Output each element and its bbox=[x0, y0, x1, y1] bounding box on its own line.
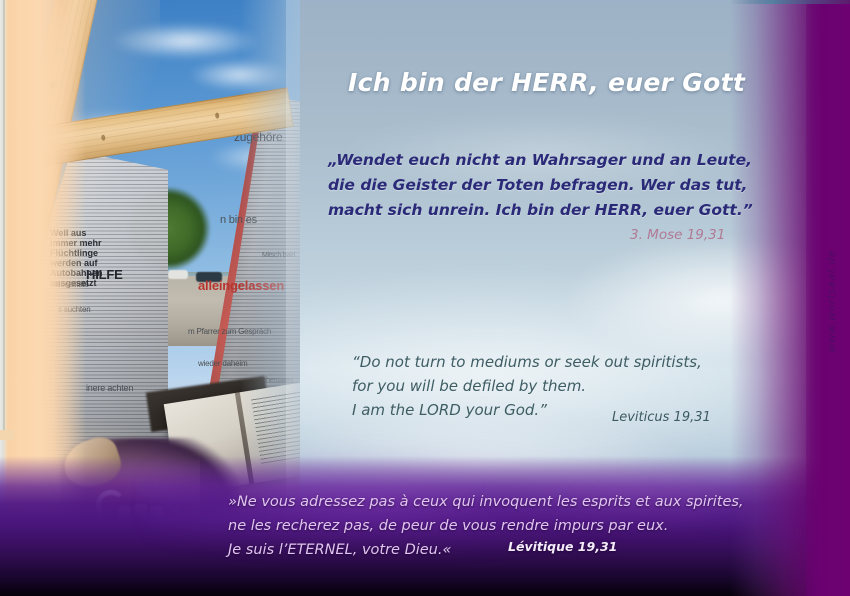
german-verse-text: „Wendet euch nicht an Wahrsager und an L… bbox=[328, 148, 748, 223]
french-verse-line: »Ne vous adressez pas à ceux qui invoque… bbox=[228, 490, 808, 514]
website-watermark: www.wortsaat.de bbox=[825, 250, 838, 353]
english-verse-reference: Leviticus 19,31 bbox=[612, 410, 711, 425]
french-verse-line: ne les recherez pas, de peur de vous ren… bbox=[228, 514, 808, 538]
english-verse-line: “Do not turn to mediums or seek out spir… bbox=[352, 350, 752, 374]
german-verse-line: die die Geister der Toten befragen. Wer … bbox=[328, 173, 748, 198]
french-verse-reference: Lévitique 19,31 bbox=[508, 539, 617, 554]
german-verse-line: „Wendet euch nicht an Wahrsager und an L… bbox=[328, 148, 748, 173]
english-verse-line: for you will be defiled by them. bbox=[352, 374, 752, 398]
verse-card: zugehören bin esalleingelassenHILFEm Pfa… bbox=[0, 0, 850, 596]
text-layer: Ich bin der HERR, euer Gott „Wendet euch… bbox=[0, 0, 850, 596]
german-verse-line: macht sich unrein. Ich bin der HERR, eue… bbox=[328, 198, 748, 223]
german-verse-reference: 3. Mose 19,31 bbox=[630, 227, 725, 243]
page-title: Ich bin der HERR, euer Gott bbox=[348, 68, 768, 97]
